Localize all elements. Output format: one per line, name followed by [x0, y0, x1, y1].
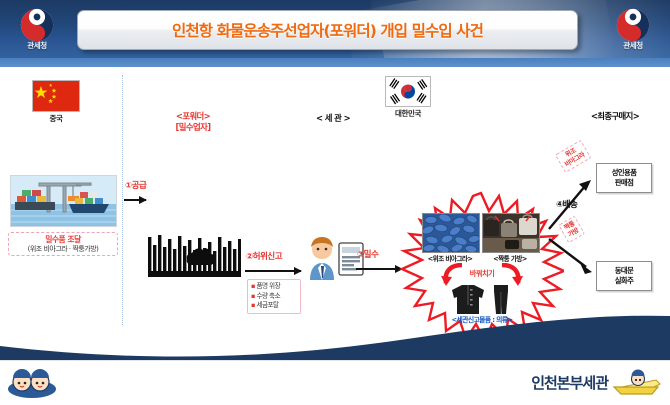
decorative-wave [0, 300, 670, 362]
customs-label: < 세 관 > [298, 113, 368, 124]
page-title: 인천항 화물운송주선업자(포워더) 개입 밀수입 사건 [77, 10, 578, 50]
south-korea-flag-icon [386, 77, 430, 106]
blue-pills-photo [422, 213, 480, 253]
bags-photo-caption: <짝퉁 가방> [481, 253, 539, 263]
slide-root: 관세청 관세청 인천항 화물운송주선업자(포워더) 개입 밀수입 사건 [0, 0, 670, 405]
dest-dongdaemun-label: 동대문 실화주 [615, 266, 634, 285]
counterfeit-bags-photo [482, 213, 540, 253]
forwarder-label: <포워더> [밀수업자] [155, 111, 231, 133]
swap-label: 바꿔치기 [456, 269, 508, 279]
forwarder-label-line2: [밀수업자] [155, 122, 231, 133]
dest-dongdaemun[interactable]: 동대문 실화주 [596, 261, 652, 291]
dest-adult-shop[interactable]: 성인용품 판매점 [596, 163, 652, 193]
origin-country: 중국 [33, 81, 79, 124]
origin-callout-sub: (위조 비아그라 · 짝퉁가방) [13, 245, 113, 254]
logo-right: 관세청 [604, 8, 662, 54]
slide-footer: 인천본부세관 [0, 360, 670, 405]
customs-mascot-pair-icon [6, 367, 58, 399]
arrow-false-declaration [245, 270, 301, 272]
taegeuk-logo-icon [20, 8, 54, 42]
pills-photo-caption: <위조 비아그라> [421, 253, 479, 263]
section-divider [122, 75, 123, 325]
origin-country-label: 중국 [33, 113, 79, 124]
origin-callout: 밀수품 조달 (위조 비아그라 · 짝퉁가방) [8, 232, 118, 256]
city-skyline-icon [148, 235, 241, 277]
bullet-item: ▪ 품명 위장 [251, 282, 297, 292]
arrow-smuggling [356, 268, 402, 270]
destination-country-label: 대한민국 [386, 108, 430, 119]
china-flag-icon [33, 81, 79, 111]
footer-org-name: 인천본부세관 [531, 372, 608, 393]
destination-country: 대한민국 [386, 77, 430, 119]
taegeuk-logo-icon [616, 8, 650, 42]
page-title-text: 인천항 화물운송주선업자(포워더) 개입 밀수입 사건 [172, 19, 483, 41]
arrow-supply [124, 199, 146, 201]
destination-header: <최종구매지> [572, 111, 658, 122]
step-1-label: ①공급 [125, 179, 146, 191]
header-accent-band [0, 58, 670, 67]
logo-left: 관세청 [8, 8, 66, 54]
container-port-photo [10, 175, 117, 227]
dest-adult-shop-label: 성인용품 판매점 [612, 168, 637, 187]
step-3-label: ③밀수 [357, 248, 378, 260]
customs-mascot-boat-icon [612, 369, 662, 397]
step-4-label: ④배송 [556, 198, 577, 210]
origin-callout-title: 밀수품 조달 [13, 235, 113, 245]
forwarder-label-line1: <포워더> [155, 111, 231, 122]
step-2-label: ②허위신고 [246, 250, 282, 262]
